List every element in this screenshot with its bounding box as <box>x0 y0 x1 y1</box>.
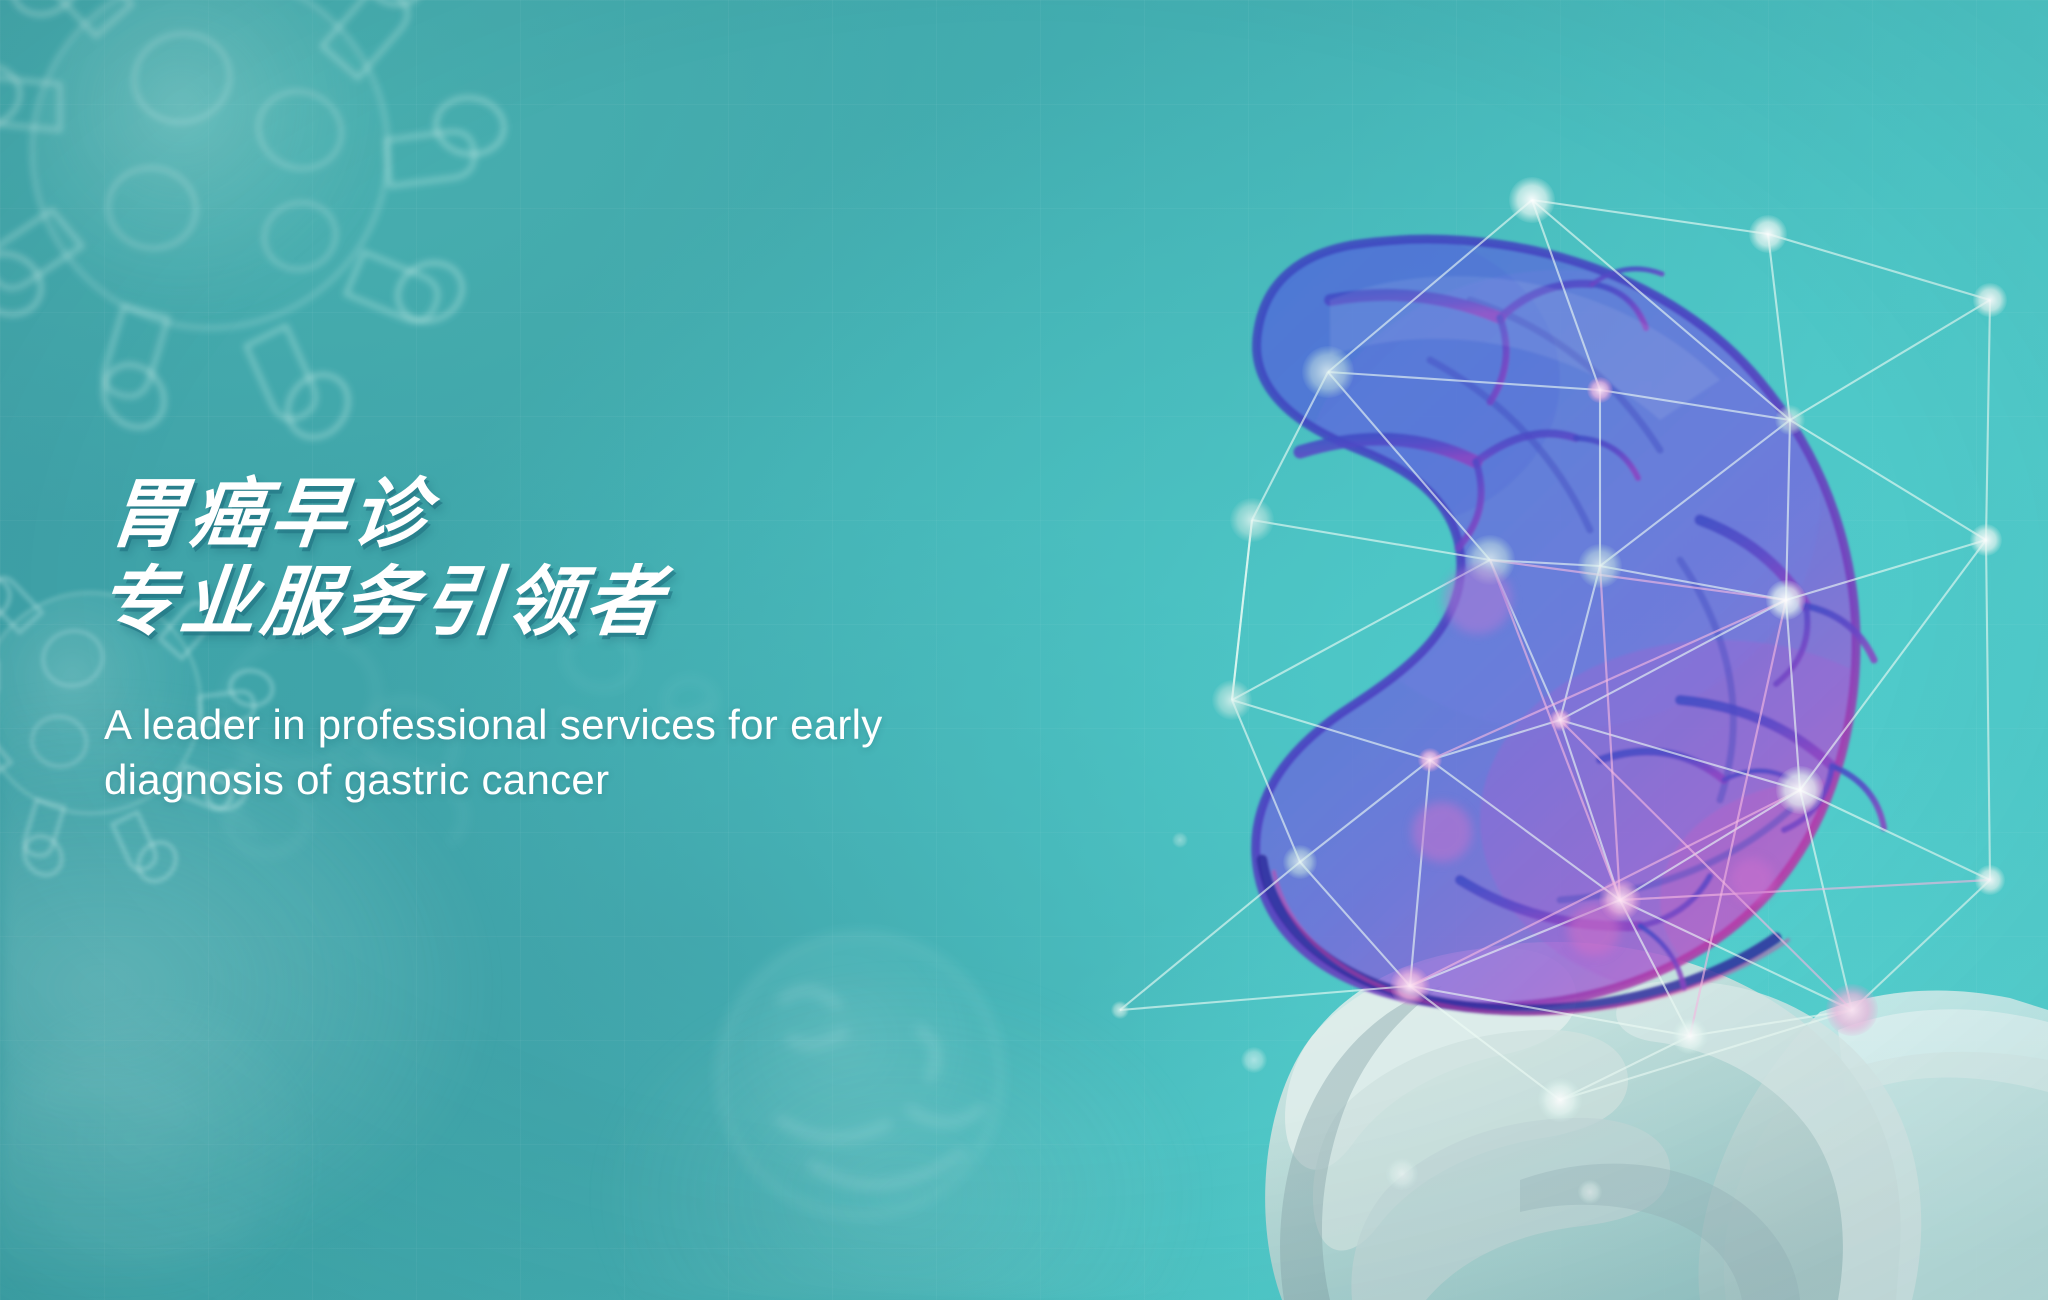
page-title: 胃癌早诊 专业服务引领者 <box>95 471 1194 647</box>
subtitle-line-1: A leader in professional services for ea… <box>104 698 1114 753</box>
banner-hero: 胃癌早诊 专业服务引领者 A leader in professional se… <box>0 0 2048 1300</box>
page-subtitle: A leader in professional services for ea… <box>104 698 1114 807</box>
headline-line-1: 胃癌早诊 <box>104 471 1193 559</box>
headline-line-2: 专业服务引领者 <box>95 559 1184 647</box>
hero-copy: 胃癌早诊 专业服务引领者 A leader in professional se… <box>104 420 1184 849</box>
subtitle-line-2: diagnosis of gastric cancer <box>104 753 1114 808</box>
